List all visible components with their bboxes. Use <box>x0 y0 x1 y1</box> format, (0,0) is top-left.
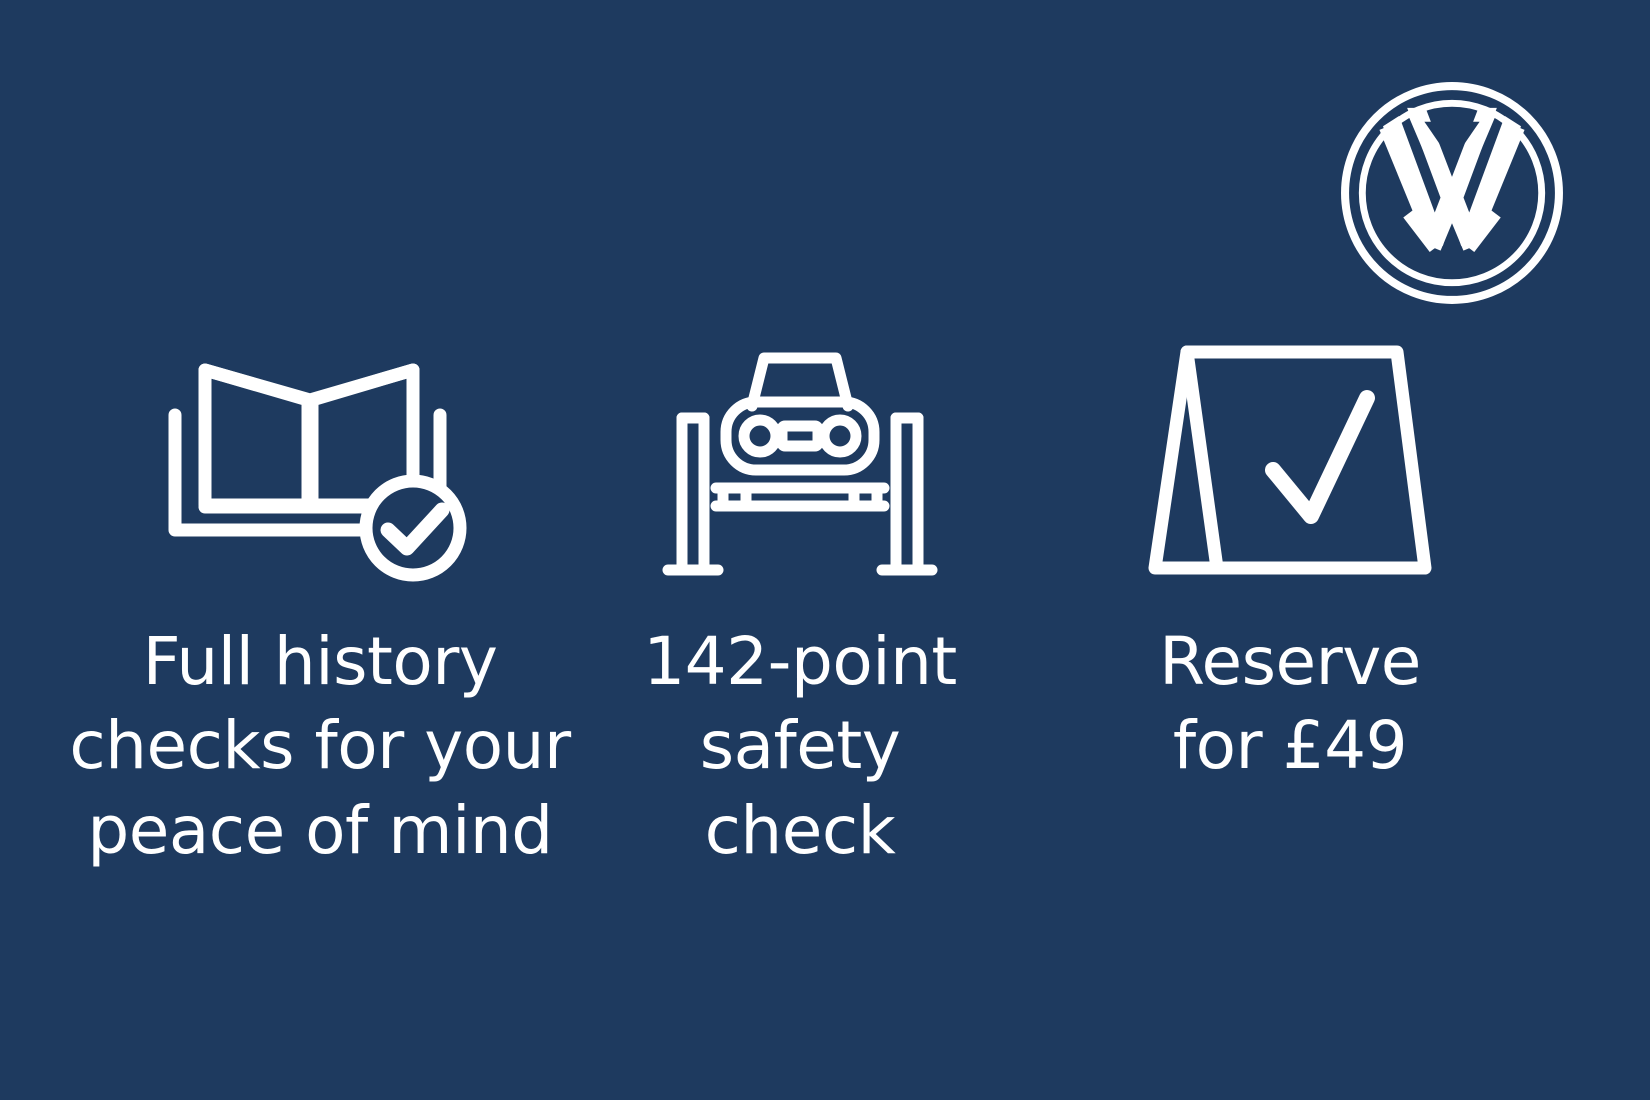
book-check-icon-container <box>155 330 485 620</box>
promo-banner: Full history checks for your peace of mi… <box>0 0 1650 1100</box>
feature-caption-1: Full history checks for your peace of mi… <box>40 620 600 873</box>
check-badge-icon <box>366 481 460 575</box>
feature-columns: Full history checks for your peace of mi… <box>0 330 1650 873</box>
a-frame-sign-with-check-icon <box>1125 330 1455 590</box>
feature-column-1: Full history checks for your peace of mi… <box>40 330 600 873</box>
vw-roundel-icon <box>1337 78 1567 308</box>
feature-caption-3: Reserve for £49 <box>1070 620 1510 789</box>
volkswagen-logo <box>1337 78 1567 308</box>
feature-column-3: Reserve for £49 <box>1010 330 1570 789</box>
open-book-with-check-badge-icon <box>155 330 485 590</box>
car-on-vehicle-lift-icon <box>660 330 940 590</box>
check-mark-icon <box>1273 398 1367 516</box>
car-lift-icon-container <box>660 330 940 620</box>
feature-caption-2: 142-point safety check <box>600 620 1000 873</box>
reserve-sign-icon-container <box>1125 330 1455 620</box>
feature-column-2: 142-point safety check <box>600 330 1000 873</box>
